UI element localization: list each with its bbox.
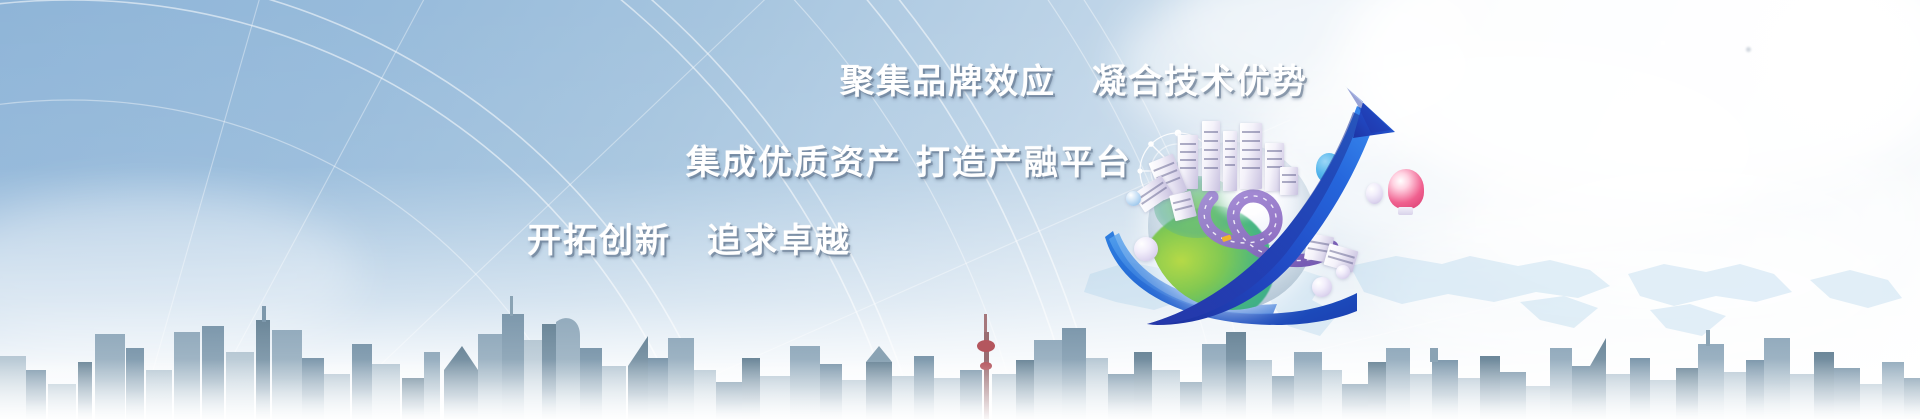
headline-line-1: 聚集品牌效应 凝合技术优势 xyxy=(840,54,1308,103)
headline-line-2: 集成优质资产 打造产融平台 xyxy=(686,135,1132,184)
headline-line-3: 开拓创新 追求卓越 xyxy=(527,213,851,262)
headline-group: 聚集品牌效应 凝合技术优势 集成优质资产 打造产融平台 开拓创新 追求卓越 xyxy=(0,0,1920,419)
hero-banner: 聚集品牌效应 凝合技术优势 集成优质资产 打造产融平台 开拓创新 追求卓越 xyxy=(0,0,1920,419)
